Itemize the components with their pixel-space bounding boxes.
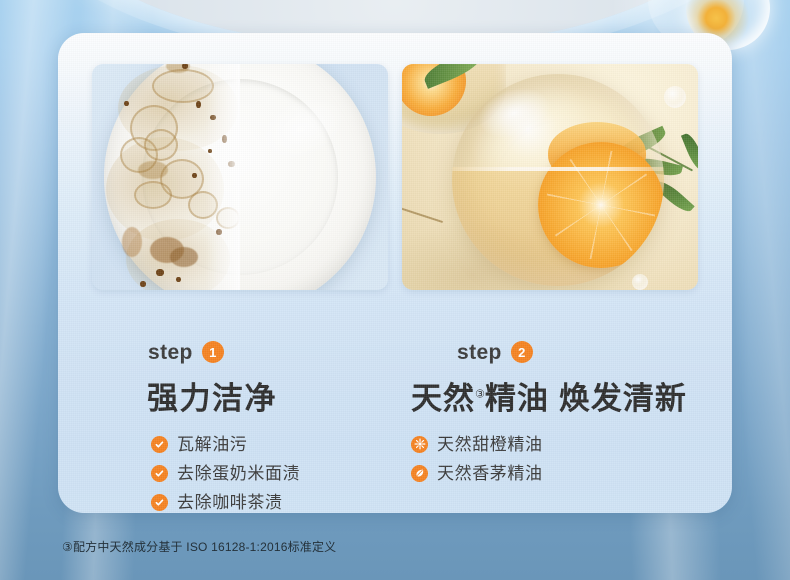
scene-stem (402, 207, 443, 223)
promo-banner: step 1 强力洁净 瓦解油污 (0, 0, 790, 580)
water-droplet (664, 86, 686, 108)
water-surface-line (452, 167, 664, 171)
benefit-list-2: 天然甜橙精油 天然香茅精油 (411, 433, 543, 491)
step-word: step (457, 342, 502, 363)
dirty-clean-plate-photo (92, 64, 388, 290)
water-droplet (632, 274, 648, 290)
check-icon (151, 465, 168, 482)
step-column-1: step 1 强力洁净 瓦解油污 (58, 33, 395, 513)
list-item-label: 天然甜橙精油 (437, 436, 543, 453)
orange-blossom-icon (411, 436, 428, 453)
step-number-badge: 2 (511, 341, 533, 363)
list-item: 去除咖啡茶渍 (151, 491, 300, 513)
plate-dirt-fade (206, 64, 240, 290)
plate-dirty-half (104, 64, 240, 290)
list-item: 去除蛋奶米面渍 (151, 462, 300, 484)
footnote-text: ③配方中天然成分基于 ISO 16128-1:2016标准定义 (62, 538, 336, 555)
leaf-icon (411, 465, 428, 482)
orange-slice-main (538, 142, 664, 268)
list-item: 天然甜橙精油 (411, 433, 543, 455)
check-icon (151, 494, 168, 511)
steps-card: step 1 强力洁净 瓦解油污 (58, 33, 732, 513)
check-icon (151, 436, 168, 453)
list-item-label: 瓦解油污 (177, 436, 247, 453)
orange-scene (402, 64, 698, 290)
heading-part-oil: 精油 (485, 381, 549, 416)
step-label-2: step 2 (457, 341, 533, 363)
heading-part-fresh: 焕发清新 (559, 381, 687, 416)
heading-footnote-marker: ③ (475, 389, 485, 401)
list-item: 天然香茅精油 (411, 462, 543, 484)
step-number-badge: 1 (202, 341, 224, 363)
orange-essential-oil-sphere-photo (402, 64, 698, 290)
column-heading-2: 天然③精油焕发清新 (411, 383, 687, 414)
benefit-list-1: 瓦解油污 去除蛋奶米面渍 (151, 433, 300, 513)
list-item-label: 去除蛋奶米面渍 (177, 465, 300, 482)
list-item: 瓦解油污 (151, 433, 300, 455)
plate-scene (92, 64, 388, 290)
step-label-1: step 1 (148, 341, 224, 363)
step-column-2: step 2 天然③精油焕发清新 (395, 33, 732, 513)
plate-shape (104, 64, 376, 290)
list-item-label: 天然香茅精油 (437, 465, 543, 482)
list-item-label: 去除咖啡茶渍 (177, 494, 283, 511)
column-heading-1: 强力洁净 (147, 383, 277, 414)
heading-part-natural: 天然 (411, 381, 475, 416)
step-word: step (148, 342, 193, 363)
